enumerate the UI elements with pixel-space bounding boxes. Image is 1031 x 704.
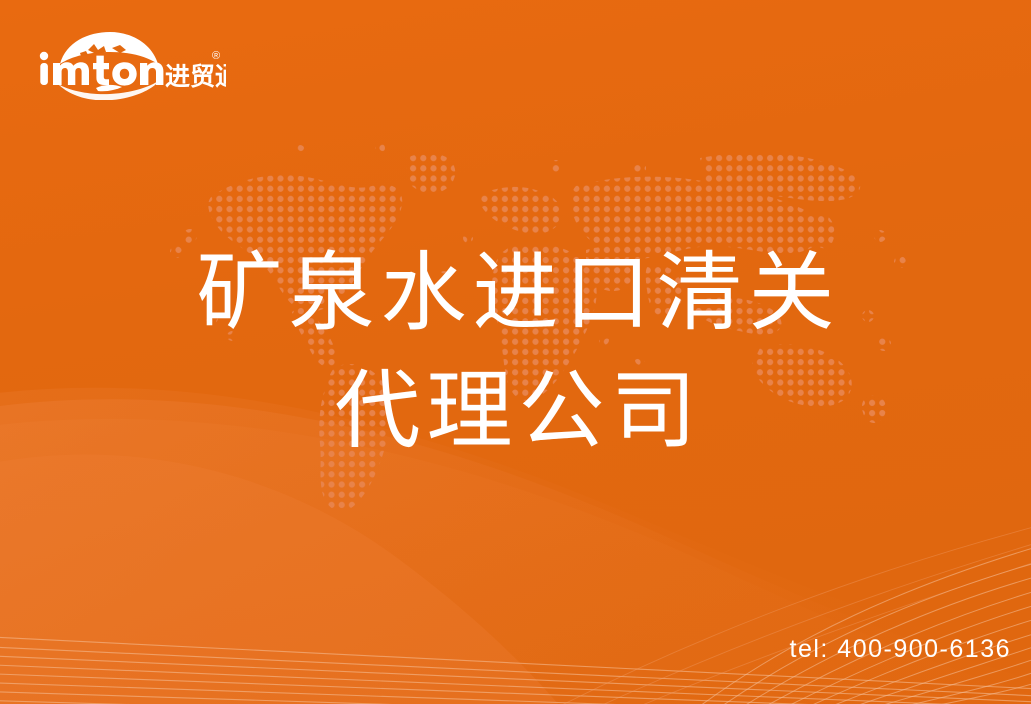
- contact-phone[interactable]: tel: 400-900-6136: [790, 635, 1011, 664]
- logo-chinese-name-shape: 进贸通: [165, 63, 226, 91]
- promo-banner: 进贸通 ® 矿泉水进口清关 代理公司 tel: 400-900-6136: [0, 0, 1031, 704]
- headline: 矿泉水进口清关 代理公司: [0, 234, 1031, 470]
- headline-line-1: 矿泉水进口清关: [0, 234, 1031, 352]
- trademark-symbol-shape: ®: [212, 50, 220, 62]
- headline-line-2: 代理公司: [0, 352, 1031, 470]
- company-logo[interactable]: 进贸通 ®: [36, 26, 226, 100]
